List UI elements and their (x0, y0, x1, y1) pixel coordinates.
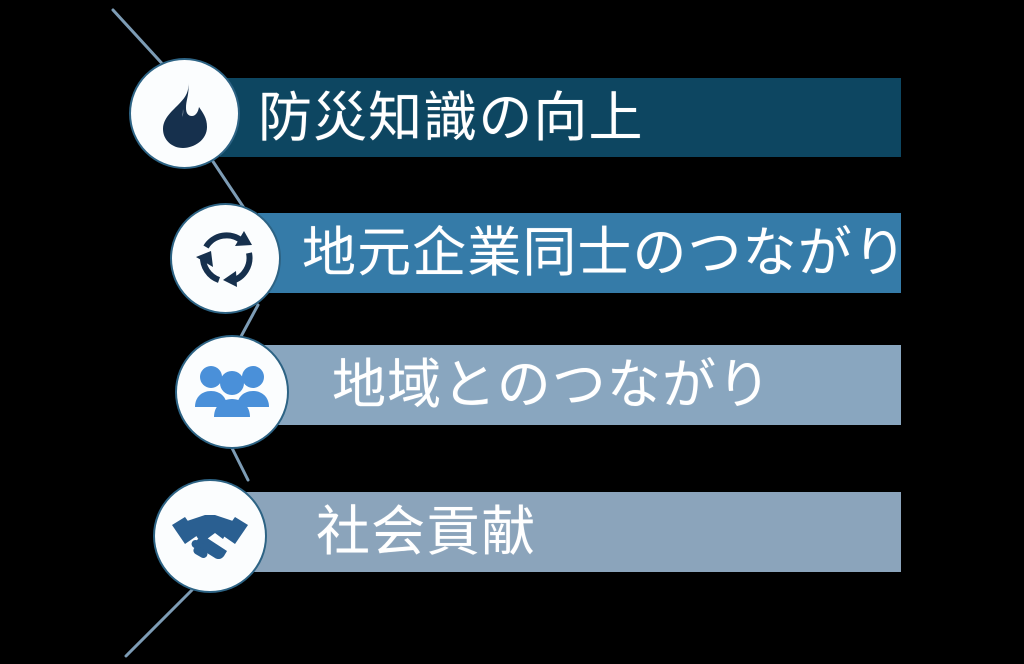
bar-3-label: 地域とのつながり (332, 358, 772, 412)
bar-4[interactable]: 社会貢献 (240, 492, 901, 572)
bar-1[interactable]: 防災知識の向上 (220, 78, 901, 157)
diagram-canvas: 防災知識の向上 地元企業同士のつながり (0, 0, 1024, 664)
bar-2-label: 地元企業同士のつながり (302, 226, 908, 280)
bar-1-label: 防災知識の向上 (258, 91, 644, 145)
icon-circle-2[interactable] (172, 205, 279, 312)
flame-icon (154, 79, 216, 149)
bar-3[interactable]: 地域とのつながり (262, 345, 901, 425)
icon-circle-3[interactable] (177, 337, 287, 447)
icon-circle-1[interactable] (131, 60, 238, 167)
people-group-icon (195, 363, 269, 421)
icon-circle-4[interactable] (155, 481, 265, 591)
handshake-icon (171, 509, 249, 563)
bar-4-label: 社会貢献 (316, 505, 536, 559)
bar-2[interactable]: 地元企業同士のつながり (258, 213, 901, 293)
recycle-arrows-icon (192, 225, 260, 293)
